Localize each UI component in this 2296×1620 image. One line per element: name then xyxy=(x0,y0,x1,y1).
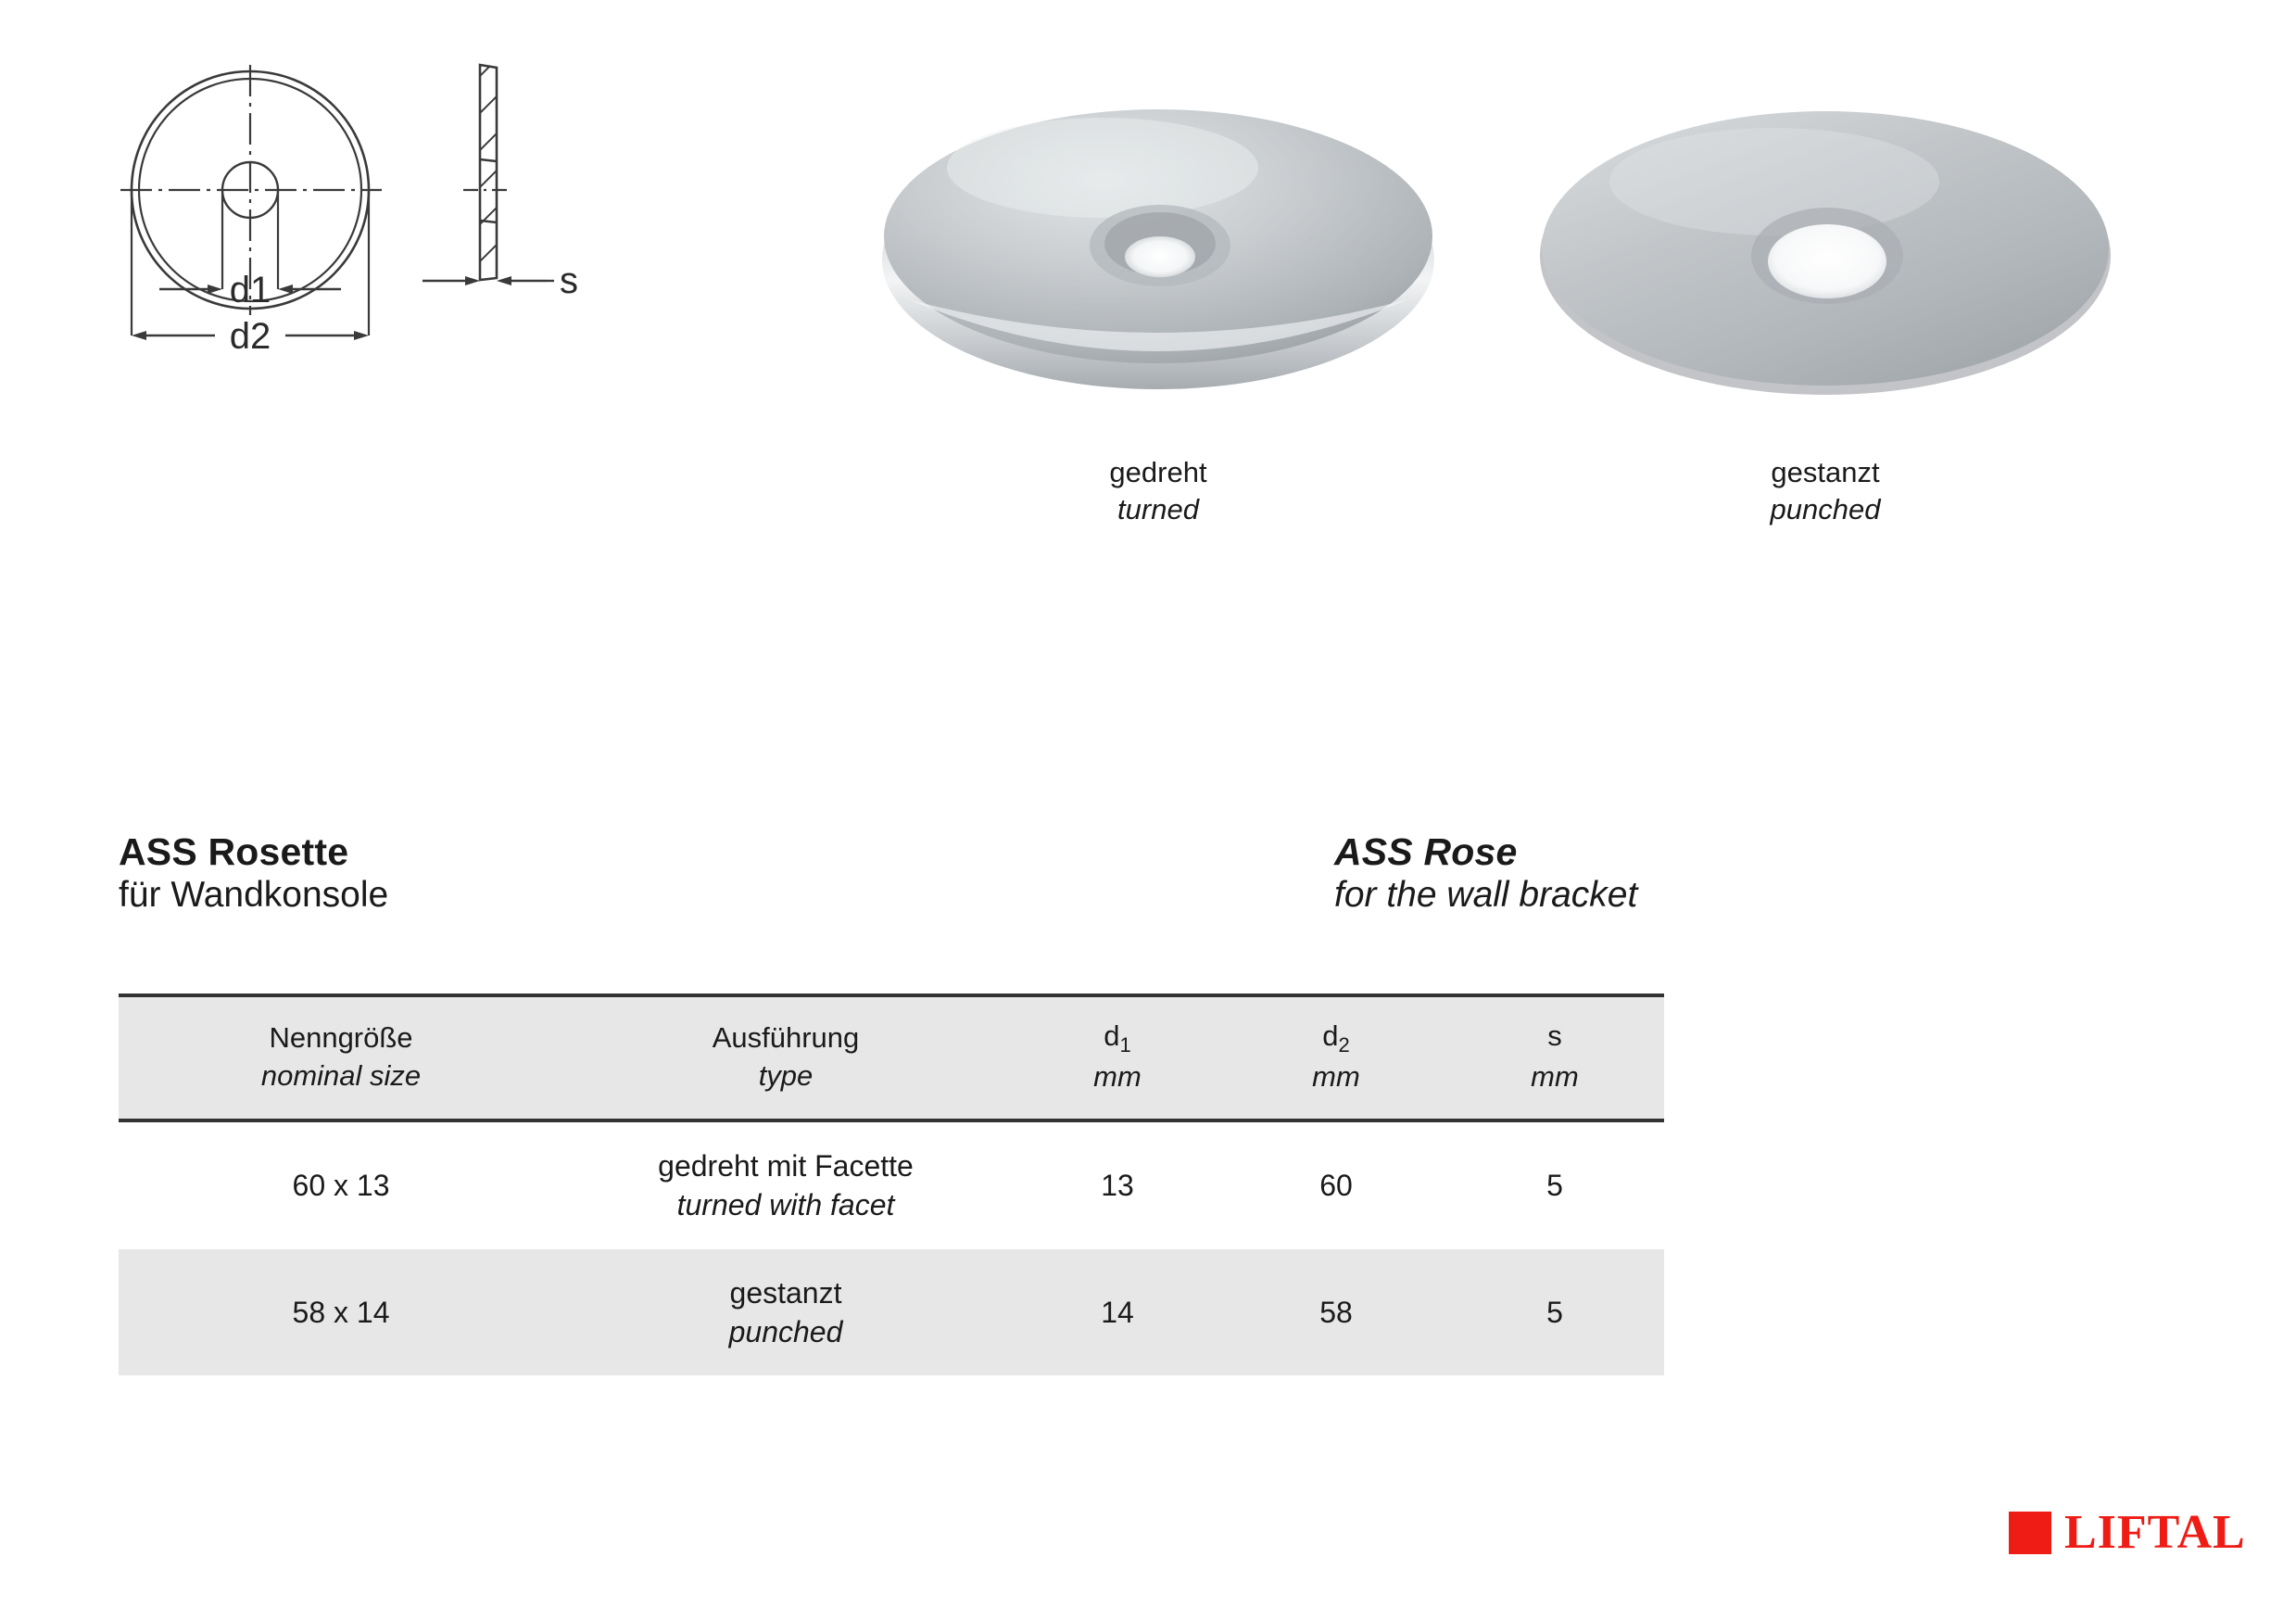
column-header-d2: d2 mm xyxy=(1227,995,1445,1120)
caption-turned-en: turned xyxy=(871,491,1445,528)
product-title-en-main: ASS Rose xyxy=(1334,829,1637,874)
cell-type: gestanzt punched xyxy=(563,1249,1008,1375)
cell-s: 5 xyxy=(1445,1120,1664,1248)
table-row: 60 x 13 gedreht mit Facette turned with … xyxy=(119,1120,1664,1248)
column-header-s: s mm xyxy=(1445,995,1664,1120)
table-row: 58 x 14 gestanzt punched 14 58 5 xyxy=(119,1249,1664,1375)
caption-punched-de: gestanzt xyxy=(1529,454,2122,491)
caption-punched: gestanzt punched xyxy=(1529,454,2122,529)
dimension-label-s: s xyxy=(560,260,578,301)
brand-logo: LIFTAL xyxy=(2009,1509,2246,1557)
dimension-label-d1: d1 xyxy=(230,270,271,310)
product-title-de-sub: für Wandkonsole xyxy=(119,874,388,917)
cell-d2: 60 xyxy=(1227,1120,1445,1248)
brand-name: LIFTAL xyxy=(2064,1509,2246,1557)
cell-nominal-size: 60 x 13 xyxy=(119,1120,563,1248)
cell-d2: 58 xyxy=(1227,1249,1445,1375)
dimension-label-d2: d2 xyxy=(230,316,271,357)
cell-s: 5 xyxy=(1445,1249,1664,1375)
caption-turned: gedreht turned xyxy=(871,454,1445,529)
column-header-type: Ausführung type xyxy=(563,995,1008,1120)
technical-drawing-svg: d1 d2 s xyxy=(111,46,834,361)
caption-punched-en: punched xyxy=(1529,491,2122,528)
product-title-de-main: ASS Rosette xyxy=(119,829,388,874)
column-header-nominal-size: Nenngröße nominal size xyxy=(119,995,563,1120)
turned-bore xyxy=(1125,236,1195,277)
cell-type: gedreht mit Facette turned with facet xyxy=(563,1120,1008,1248)
table-header-row: Nenngröße nominal size Ausführung type d… xyxy=(119,995,1664,1120)
specification-table: Nenngröße nominal size Ausführung type d… xyxy=(119,994,1664,1375)
technical-drawing: d1 d2 s xyxy=(111,46,834,361)
column-header-d1: d1 mm xyxy=(1008,995,1227,1120)
cell-nominal-size: 58 x 14 xyxy=(119,1249,563,1375)
product-photo-punched xyxy=(1529,93,2122,403)
cell-d1: 14 xyxy=(1008,1249,1227,1375)
side-view-plate xyxy=(454,46,519,361)
punched-hole xyxy=(1768,224,1886,298)
product-photo-turned xyxy=(871,88,1445,394)
product-title-english: ASS Rose for the wall bracket xyxy=(1334,829,1637,917)
product-title-german: ASS Rosette für Wandkonsole xyxy=(119,829,388,917)
turned-highlight xyxy=(947,118,1258,218)
caption-turned-de: gedreht xyxy=(871,454,1445,491)
brand-square-mark xyxy=(2009,1512,2051,1554)
product-title-en-sub: for the wall bracket xyxy=(1334,874,1637,917)
punched-highlight xyxy=(1609,128,1939,235)
cell-d1: 13 xyxy=(1008,1120,1227,1248)
